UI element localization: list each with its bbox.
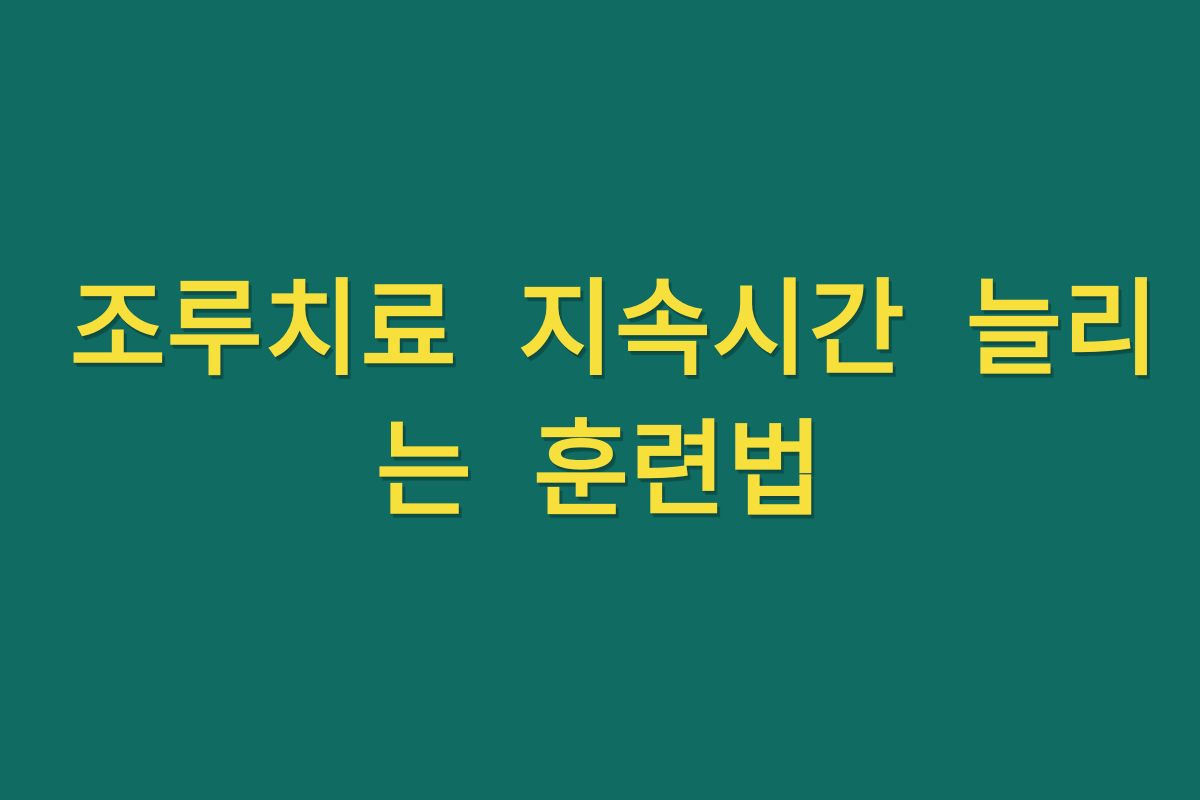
poster-canvas: 조루치료 지속시간 늘리 는 훈련법 xyxy=(0,0,1200,800)
headline-line-1: 조루치료 지속시간 늘리 xyxy=(70,259,1130,400)
headline-text-block: 조루치료 지속시간 늘리 는 훈련법 xyxy=(70,259,1130,542)
headline-line-2: 는 훈련법 xyxy=(70,400,1130,541)
